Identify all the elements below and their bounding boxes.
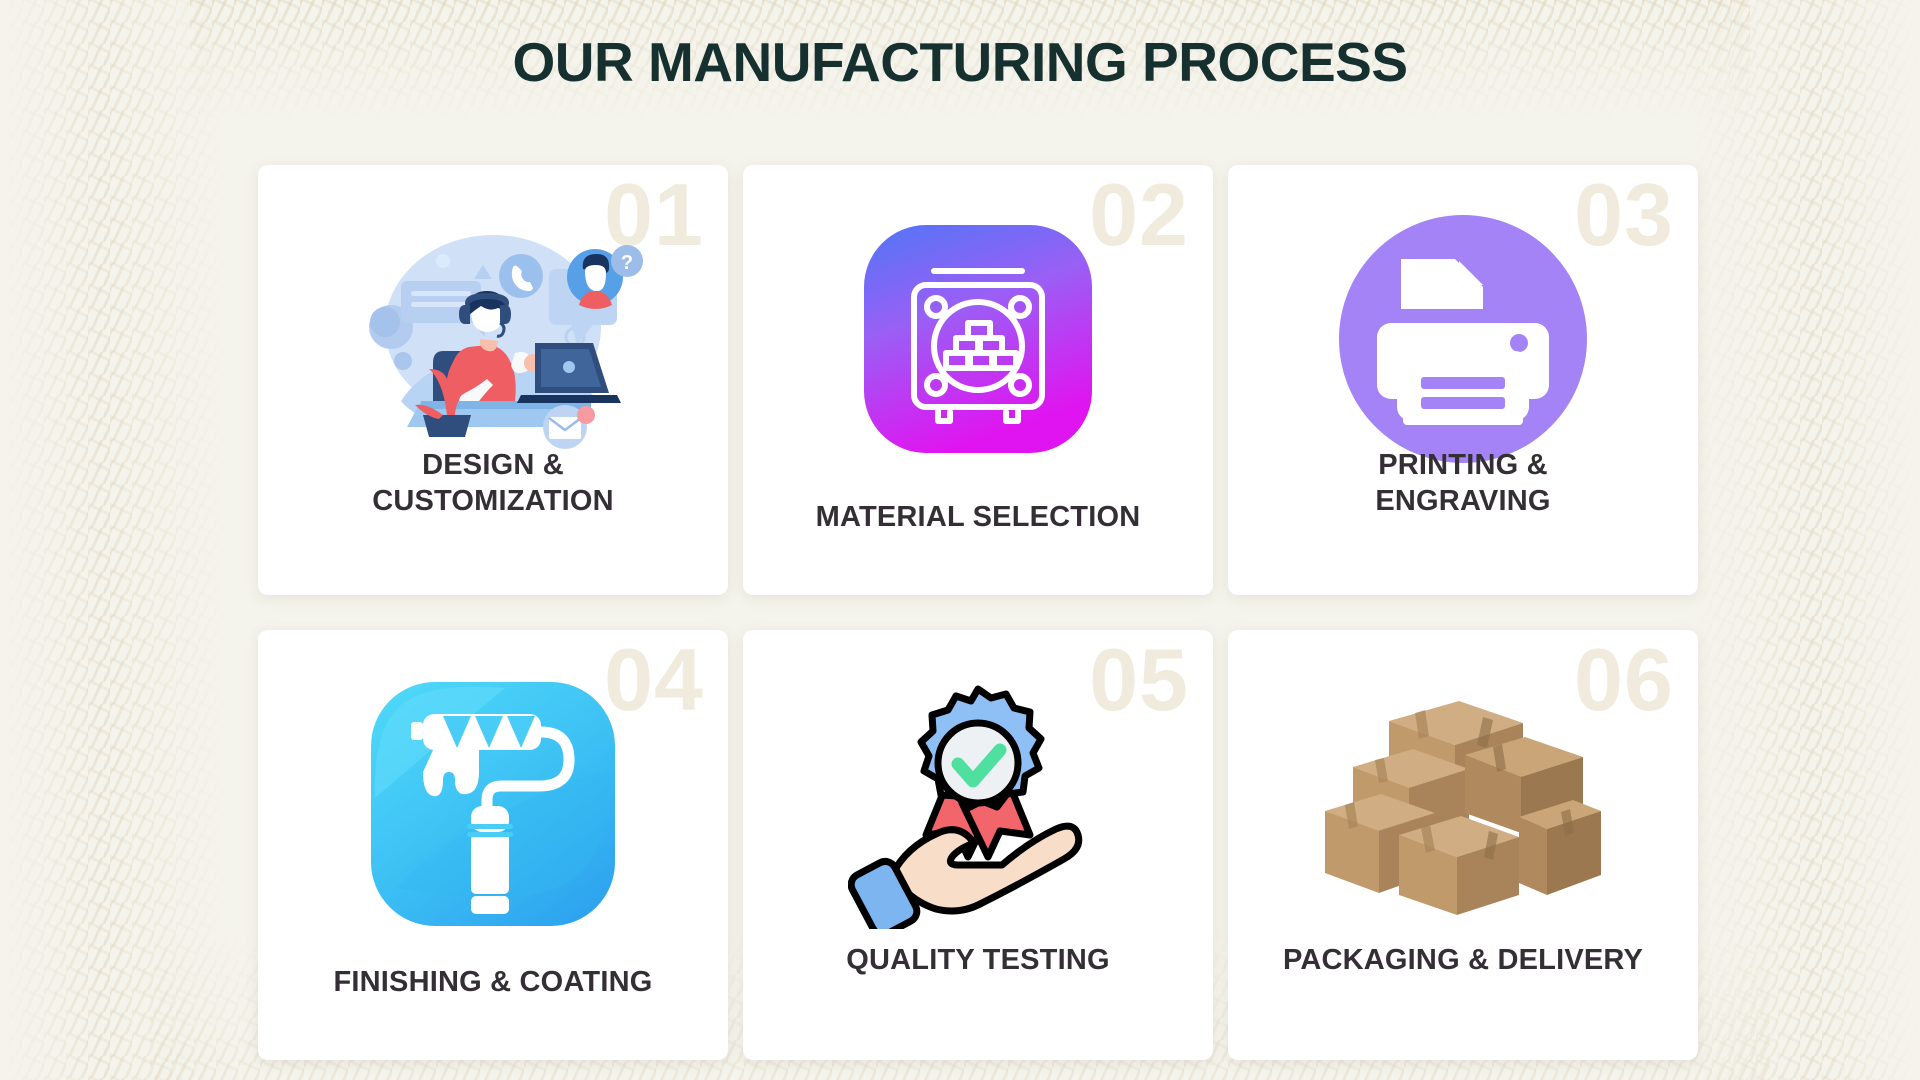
card-label-02: MATERIAL SELECTION	[761, 500, 1195, 535]
printer-icon	[1337, 213, 1589, 465]
card-visual-01: ?	[258, 199, 728, 479]
process-card-packaging-delivery[interactable]: 06	[1228, 630, 1698, 1060]
safe-vault-icon	[858, 219, 1098, 459]
card-label-line: PRINTING &	[1246, 448, 1680, 483]
card-label-line: MATERIAL SELECTION	[761, 500, 1195, 535]
card-label-line: PACKAGING & DELIVERY	[1246, 943, 1680, 978]
hand-holding-quality-badge-icon	[848, 679, 1108, 929]
process-card-printing-engraving[interactable]: 03	[1228, 165, 1698, 595]
process-infographic: OUR MANUFACTURING PROCESS 01	[0, 0, 1920, 1080]
card-label-line: QUALITY TESTING	[761, 943, 1195, 978]
page-title: OUR MANUFACTURING PROCESS	[0, 30, 1920, 94]
card-visual-06	[1228, 664, 1698, 944]
process-card-quality-testing[interactable]: 05	[743, 630, 1213, 1060]
card-label-line: CUSTOMIZATION	[276, 484, 710, 519]
card-label-03: PRINTING & ENGRAVING	[1246, 448, 1680, 519]
process-cards-grid: 01	[258, 165, 1713, 1060]
cardboard-boxes-stack-icon	[1323, 689, 1603, 919]
card-label-line: FINISHING & COATING	[276, 965, 710, 1000]
card-label-line: ENGRAVING	[1246, 484, 1680, 519]
process-card-design-customization[interactable]: 01	[258, 165, 728, 595]
process-card-finishing-coating[interactable]: 04	[258, 630, 728, 1060]
card-label-01: DESIGN & CUSTOMIZATION	[276, 448, 710, 519]
svg-text:?: ?	[621, 252, 633, 274]
paint-roller-icon	[367, 678, 619, 930]
card-visual-02	[743, 199, 1213, 479]
card-label-06: PACKAGING & DELIVERY	[1246, 943, 1680, 978]
card-visual-05	[743, 664, 1213, 944]
card-label-line: DESIGN &	[276, 448, 710, 483]
card-label-04: FINISHING & COATING	[276, 965, 710, 1000]
card-visual-03	[1228, 199, 1698, 479]
customer-support-illustration: ?	[343, 219, 643, 459]
process-card-material-selection[interactable]: 02	[743, 165, 1213, 595]
card-label-05: QUALITY TESTING	[761, 943, 1195, 978]
card-visual-04	[258, 664, 728, 944]
